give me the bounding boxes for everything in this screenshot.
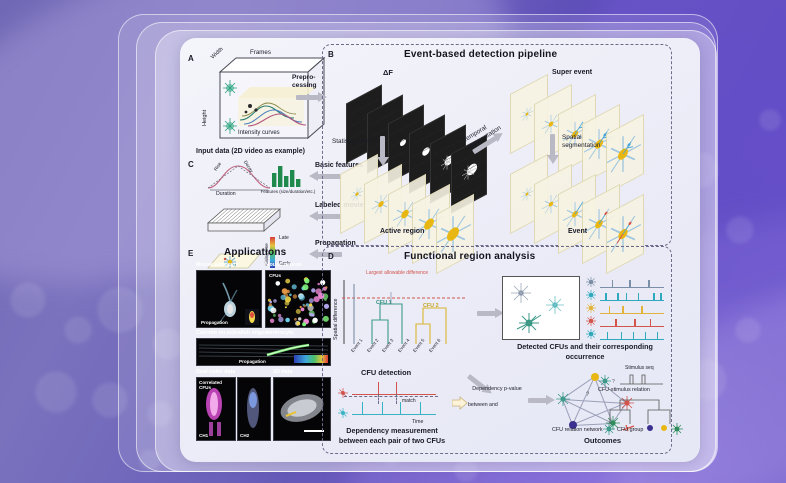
panel-a-axis-height: Height (202, 110, 208, 126)
delta-f-label: ΔF (383, 68, 393, 77)
occurrence-tick (657, 332, 658, 340)
match-connector (396, 394, 397, 404)
cfu-row-glyph (584, 289, 598, 302)
panel-c-feature-bars (270, 162, 304, 188)
occurrence-tick (660, 293, 661, 301)
dependency-traces (336, 380, 440, 422)
spatial-segmentation-arrow (550, 134, 555, 156)
dependency-tick (396, 382, 397, 394)
occurrence-tick (650, 319, 651, 327)
panel-a-letter: A (188, 54, 194, 63)
panel-a-caption: Input data (2D video as example) (196, 148, 305, 155)
panel-a-axis-frames: Frames (250, 49, 271, 56)
cfu-row-glyph (584, 315, 598, 328)
occurrence-tick (605, 293, 606, 301)
occurrence-tick (629, 280, 630, 288)
spatial-difference-axis-label: Spatial difference (333, 298, 339, 340)
cfu1-cluster-label: CFU 1 (376, 300, 392, 306)
panel-e-letter: E (188, 249, 193, 258)
cfu-group-glyph (644, 422, 658, 436)
panel-b-letter: B (328, 50, 334, 59)
preprocessing-label: Prepro-cessing (292, 74, 326, 90)
occurrence-tick (626, 293, 627, 301)
colorbar-late-label: Late (279, 235, 289, 241)
occurrence-tick (612, 280, 613, 288)
panel-d-title: Functional region analysis (404, 251, 535, 262)
cfu-group-glyph (602, 422, 616, 436)
panel-e-title: Applications (224, 247, 286, 258)
occurrence-tick (615, 319, 616, 327)
panel-d-letter: D (328, 252, 334, 261)
occurrence-tick (609, 306, 610, 314)
figure-card: A Frames Width Height (180, 38, 700, 462)
occurrence-tick (641, 306, 642, 314)
panel-b-title: Event-based detection pipeline (404, 49, 557, 60)
panel-c-features-caption: Features (size/duration/etc.) (258, 189, 318, 195)
panel-c-duration-label: Duration (216, 191, 236, 197)
dual-color-ch1-image: Correlated CFUs CH1 (196, 377, 236, 441)
dependency-baseline (352, 414, 436, 415)
zebrafish-image: Propagation (196, 338, 331, 366)
outcomes-caption: Outcomes (584, 436, 621, 445)
cfu-relation-network-label: CFU relation network (552, 427, 603, 433)
ch1-tag: CH1 (199, 433, 208, 438)
occurrence-tick (607, 332, 608, 340)
network-node (555, 391, 572, 408)
dependency-tick (382, 402, 383, 414)
network-question-mark: ? (586, 392, 589, 398)
match-connector (378, 394, 379, 404)
dependency-baseline (352, 394, 436, 395)
mouse-neuron-caption: Mouse neuron (265, 262, 302, 268)
spatial-segmentation-label: Spatial segmentation (562, 134, 608, 150)
cfu2-cluster-label: CFU 2 (423, 303, 439, 309)
raster-baseline (600, 287, 664, 288)
detected-cfu-map (502, 276, 580, 340)
event-label: Event (568, 228, 587, 235)
occurrence-tick (633, 332, 634, 340)
mouse-astrocyte-image: Propagation (196, 270, 262, 328)
active-region-label: Active region (380, 228, 424, 235)
dependency-tick (420, 402, 421, 414)
cfu-detection-caption: CFU detection (361, 368, 411, 377)
statistical-test-arrow (380, 136, 385, 158)
mouse-astrocyte-caption: Mouse astrocyte (196, 262, 239, 268)
between-and-label: between and (468, 402, 498, 408)
panel-a-intensity-curves: Intensity curves (238, 130, 280, 136)
three-d-caption: 3D data (273, 369, 292, 375)
correlated-cfus-tag: Correlated CFUs (199, 380, 235, 390)
cfu-occurrence-raster (584, 274, 666, 340)
preprocessing-arrow (296, 95, 320, 100)
occurrence-tick (648, 280, 649, 288)
cfu-row-glyph (584, 276, 598, 289)
stimulus-seq-label: Stimulus seq (625, 365, 654, 371)
dependency-tick (362, 402, 363, 414)
occurrence-tick (645, 332, 646, 340)
figure-stage: A Frames Width Height (0, 0, 786, 483)
time-axis-label: Time (412, 419, 423, 425)
occurrence-tick (653, 293, 654, 301)
occurrence-tick (621, 332, 622, 340)
cfu-to-map-arrow (477, 311, 497, 316)
dependency-measurement-caption: Dependency measurement between each pair… (332, 426, 452, 445)
cfus-tag: CFUs (269, 273, 281, 278)
match-label: match (402, 398, 416, 404)
cfu-row-glyph (584, 302, 598, 315)
panel-c-labeled-movie-stack (202, 201, 288, 235)
cfu-group-glyph (670, 422, 684, 436)
detected-cfus-caption: Detected CFUs and their corresponding oc… (510, 342, 660, 361)
svg-text:?: ? (612, 379, 615, 385)
ch2-tag: CH2 (240, 433, 249, 438)
hollow-arrow-icon (452, 396, 468, 410)
super-event-label: Super event (552, 69, 592, 76)
stimulus-seq-trace (620, 372, 664, 386)
zebrafish-caption: Calcium on zebrafish oligodendrocyte (196, 330, 294, 336)
dual-color-ch2-image: CH2 (237, 377, 271, 441)
panel-c-letter: C (188, 160, 194, 169)
match-dashed-line (344, 396, 438, 397)
cfu-stimulus-relation-label: CFU-stimulus relation (598, 387, 650, 393)
occurrence-tick (617, 293, 618, 301)
to-network-arrow (528, 398, 548, 403)
cfu-trace-glyph (336, 406, 350, 418)
dependency-tick (378, 382, 379, 394)
cfu-group-label: CFU group (617, 427, 643, 433)
cfu-row-glyph (584, 328, 598, 341)
occurrence-tick (634, 319, 635, 327)
propagation-tag: Propagation (201, 320, 228, 325)
statistical-test-label: Statistical test (332, 138, 371, 145)
propagation-tag: Propagation (239, 359, 266, 364)
occurrence-tick (622, 306, 623, 314)
cfu-glyph-icon: ? (598, 374, 616, 388)
dual-color-caption: Dual-color data (196, 369, 235, 375)
dependency-p-value-label: Dependency p-value (470, 386, 524, 393)
raster-baseline (600, 326, 664, 327)
occurrence-tick (638, 293, 639, 301)
